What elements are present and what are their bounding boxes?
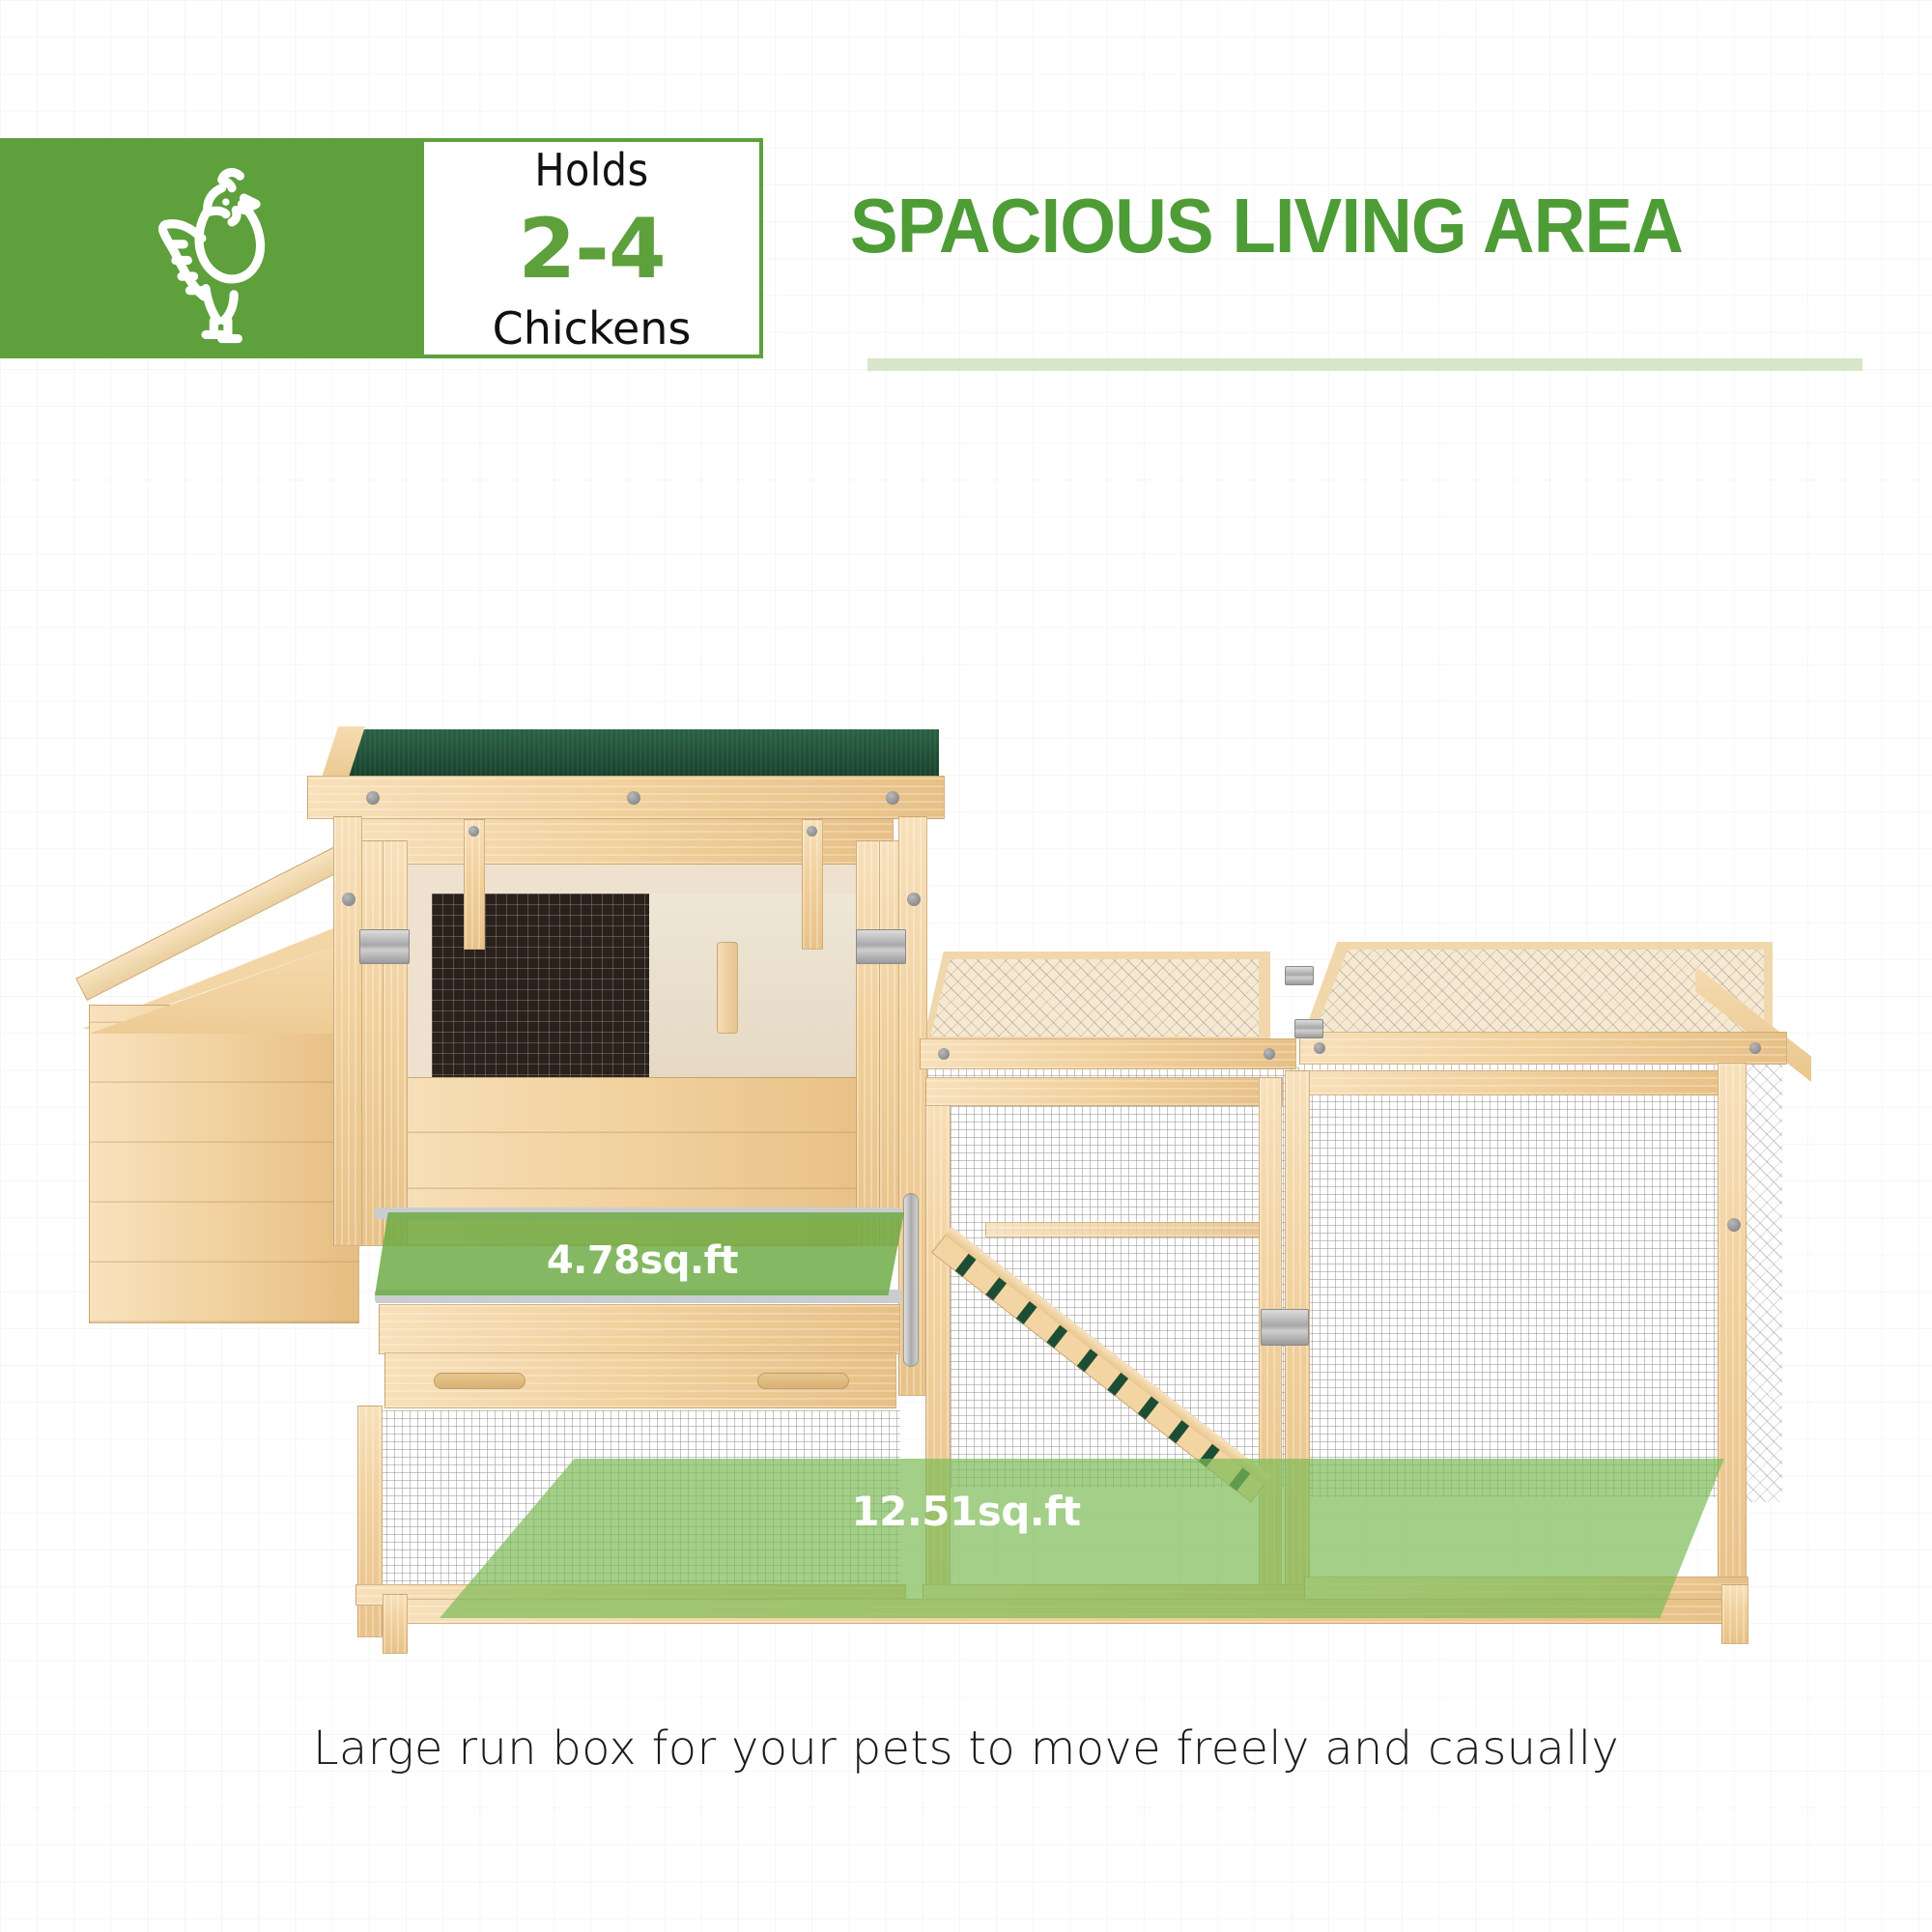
run-lid-left-mesh [930,959,1259,1037]
drawer-handle-right[interactable] [757,1373,849,1389]
coop-nest-panel [649,894,862,1077]
coop-panel-handle[interactable] [717,942,738,1034]
coop-roof-asphalt [340,729,939,780]
run-door-head-rail [925,1077,1283,1106]
nesting-box-side-wall [89,1005,359,1323]
capacity-holds-label: Holds [534,148,648,192]
capacity-panel: Holds 2-4 Chickens [420,138,763,358]
screw-icon [938,1048,950,1060]
run-lid-right-mesh [1312,950,1764,1038]
screw-icon [1264,1048,1275,1060]
screw-icon [469,826,479,837]
coop-door-right-frame [856,840,881,1246]
coop-door-left-frame [383,840,408,1246]
screw-icon [1314,1042,1325,1054]
capacity-count: 2-4 [518,208,665,291]
run-floor-area-label: 12.51sq.ft [676,1488,1256,1535]
title-underline-rule [867,358,1862,371]
base-leg-right [1721,1584,1748,1644]
capacity-unit-label: Chickens [493,306,692,351]
feature-caption: Large run box for your pets to move free… [0,1721,1932,1776]
run-top-rail-right [1299,1032,1787,1065]
hinge-icon [1261,1309,1309,1346]
screw-icon [366,791,380,805]
screw-icon [627,791,640,805]
page-title: SPACIOUS LIVING AREA [850,189,1847,263]
hinge-icon [1294,1019,1323,1038]
coop-stud-right [802,819,823,950]
run-back-top-rail [1304,1070,1729,1095]
drawer-handle-left[interactable] [434,1373,526,1389]
run-mesh-wall-right [1304,1063,1724,1497]
chicken-icon [37,138,423,358]
coop-post-left [333,816,362,1246]
drawer-face-upper [379,1304,900,1354]
screw-icon [342,893,355,906]
screw-icon [1727,1218,1741,1232]
ramp-side-rail [945,1227,1271,1485]
drawer-face-lower[interactable] [384,1352,896,1408]
screw-icon [807,826,817,837]
hinge-icon [359,929,410,964]
run-top-rail-left [920,1038,1296,1069]
hinge-icon [1285,966,1314,985]
coop-roof-fascia [307,776,945,819]
coop-stud-left [464,819,485,950]
screw-icon [886,791,899,805]
screw-icon [1749,1042,1761,1054]
nesting-tray-area-label: 4.78sq.ft [415,1219,869,1302]
run-door-handle[interactable] [903,1193,919,1367]
run-floor-area-overlay [440,1459,1724,1618]
run-post-right-outer [1718,1063,1747,1604]
screw-icon [907,893,921,906]
hinge-icon [856,929,906,964]
base-leg-left [383,1594,408,1654]
